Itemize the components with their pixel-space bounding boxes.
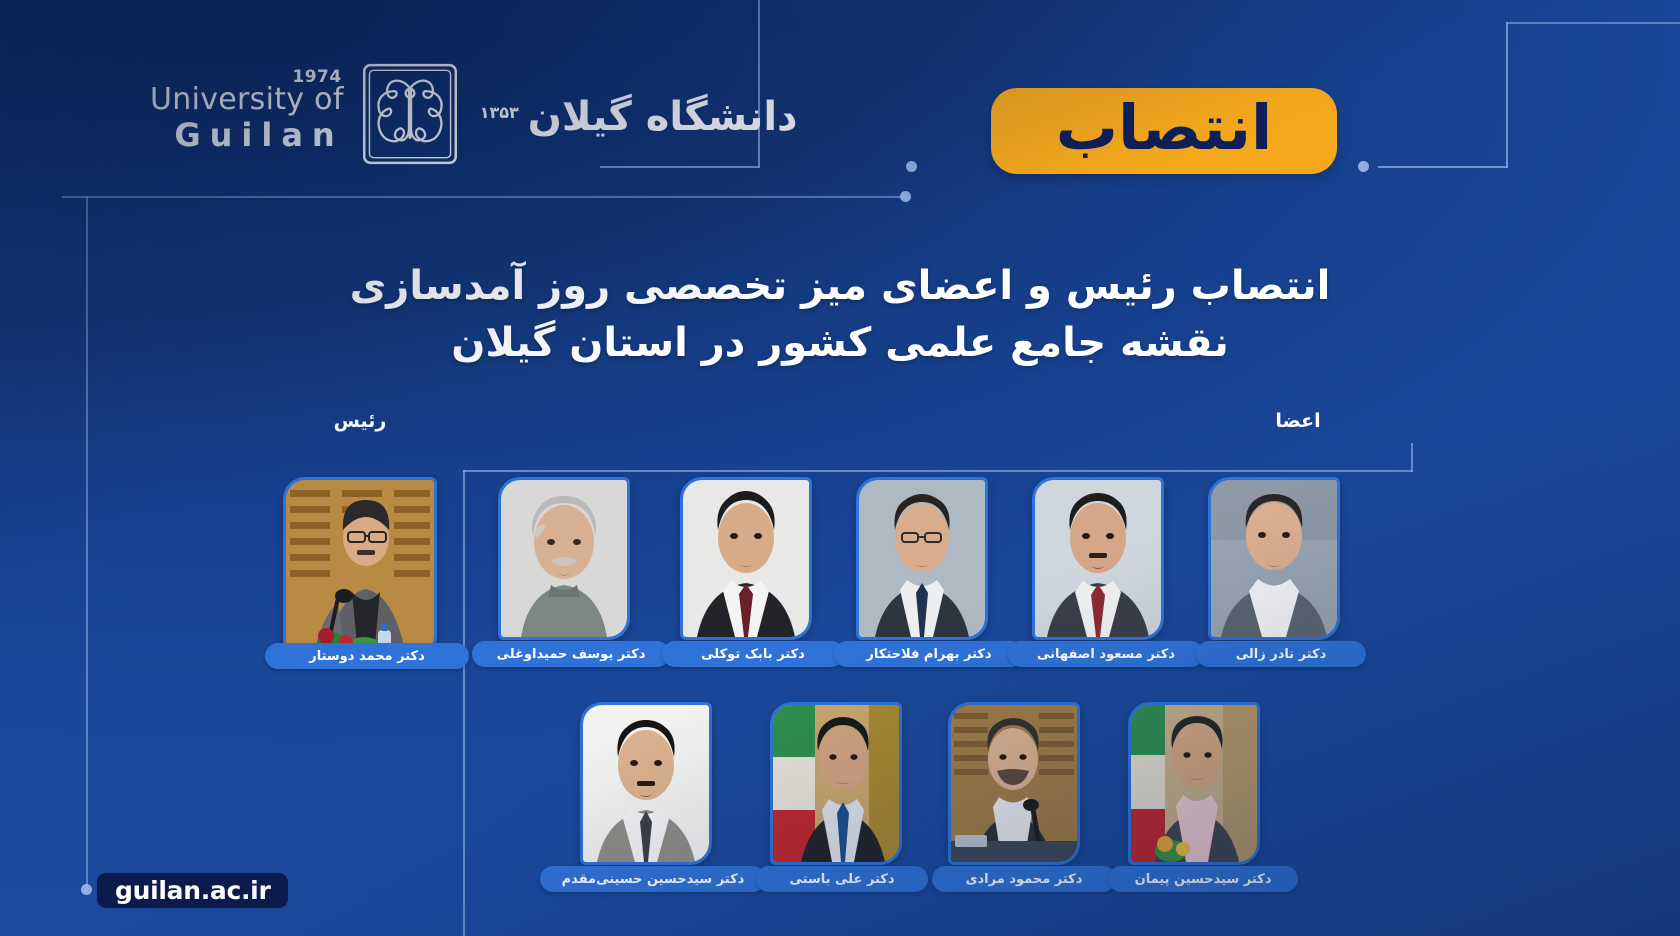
member-name-bar-8: دکتر محمود مرادی [932, 866, 1116, 892]
poster-canvas: 1974 University of Guilan ۱۳۵۳ دانشگاه گ… [0, 0, 1680, 936]
members-bracket-horizontal [463, 470, 1413, 472]
deco-dot-upper [906, 161, 917, 172]
portrait-chairman [286, 480, 434, 655]
member-name-bar-2: دکتر بابک توکلی [662, 641, 844, 667]
member-card-6[interactable] [580, 702, 712, 865]
member-name-5: دکتر نادر زالی [1236, 647, 1327, 662]
website-url: guilan.ac.ir [115, 876, 270, 905]
member-card-5[interactable] [1208, 477, 1340, 640]
portrait-member-4 [1035, 480, 1161, 637]
deco-horizontal-right-of-badge [1378, 166, 1508, 168]
member-card-3[interactable] [856, 477, 988, 640]
member-name-2: دکتر بابک توکلی [701, 647, 805, 662]
member-card-4[interactable] [1032, 477, 1164, 640]
brand-en-line2: Guilan [150, 119, 344, 151]
appointment-badge-label: انتصاب [1056, 97, 1273, 159]
brand-en-line1: University of [150, 85, 344, 115]
deco-horizontal-top-far-right [1506, 22, 1680, 24]
brand-fa-year: ۱۳۵۳ [480, 103, 519, 122]
member-name-bar-1: دکتر یوسف حمیداوغلی [472, 641, 670, 667]
brand-english-text: 1974 University of Guilan [150, 77, 344, 151]
deco-horizontal-lower [62, 196, 902, 198]
member-name-3: دکتر بهرام فلاحتکار [866, 647, 991, 662]
member-card-8[interactable] [948, 702, 1080, 865]
portrait-member-5 [1211, 480, 1337, 637]
brand-persian-text: ۱۳۵۳ دانشگاه گیلان [476, 91, 798, 137]
page-title: انتصاب رئیس و اعضای میز تخصصی روز آمدساز… [0, 258, 1680, 372]
portrait-member-9 [1131, 705, 1257, 862]
member-name-bar-3: دکتر بهرام فلاحتکار [834, 641, 1024, 667]
deco-vertical-far-right [1506, 22, 1508, 168]
deco-dot-lower [900, 191, 911, 202]
brand-fa-name: دانشگاه گیلان [476, 97, 798, 137]
member-name-bar-7: دکتر علی باستی [756, 866, 928, 892]
chair-card[interactable] [283, 477, 437, 658]
portrait-member-7 [773, 705, 899, 862]
website-url-badge[interactable]: guilan.ac.ir [97, 873, 288, 908]
member-card-2[interactable] [680, 477, 812, 640]
brand-en-year: 1974 [292, 69, 341, 86]
deco-dot-left-rail [81, 884, 92, 895]
member-name-bar-4: دکتر مسعود اصفهانی [1008, 641, 1204, 667]
portrait-member-8 [951, 705, 1077, 862]
member-name-6: دکتر سیدحسین حسینی‌مقدم [562, 872, 745, 887]
chair-name: دکتر محمد دوستار [309, 649, 425, 664]
member-name-bar-6: دکتر سیدحسین حسینی‌مقدم [540, 866, 766, 892]
chair-name-bar: دکتر محمد دوستار [265, 643, 469, 669]
chair-section-label: رئیس [300, 410, 420, 432]
headline-line-2: نقشه جامع علمی کشور در استان گیلان [0, 315, 1680, 372]
members-section-label: اعضا [1248, 410, 1348, 432]
member-name-7: دکتر علی باستی [789, 872, 894, 887]
member-card-7[interactable] [770, 702, 902, 865]
member-name-8: دکتر محمود مرادی [966, 872, 1083, 887]
member-card-1[interactable] [498, 477, 630, 640]
member-name-bar-9: دکتر سیدحسین پیمان [1108, 866, 1298, 892]
portrait-member-1 [501, 480, 627, 637]
members-bracket-vertical [463, 470, 465, 936]
headline-line-1: انتصاب رئیس و اعضای میز تخصصی روز آمدساز… [0, 258, 1680, 315]
member-card-9[interactable] [1128, 702, 1260, 865]
brand-logo: 1974 University of Guilan ۱۳۵۳ دانشگاه گ… [150, 62, 798, 166]
member-name-9: دکتر سیدحسین پیمان [1135, 872, 1272, 887]
member-name-4: دکتر مسعود اصفهانی [1037, 647, 1175, 662]
portrait-member-2 [683, 480, 809, 637]
member-name-1: دکتر یوسف حمیداوغلی [497, 647, 646, 662]
deco-dot-right [1358, 161, 1369, 172]
member-name-bar-5: دکتر نادر زالی [1196, 641, 1366, 667]
appointment-badge: انتصاب [991, 88, 1337, 174]
guilan-butterfly-emblem-icon [358, 62, 462, 166]
portrait-member-3 [859, 480, 985, 637]
deco-horizontal-upper [600, 166, 758, 168]
portrait-member-6 [583, 705, 709, 862]
members-bracket-vertical-right [1411, 443, 1413, 472]
